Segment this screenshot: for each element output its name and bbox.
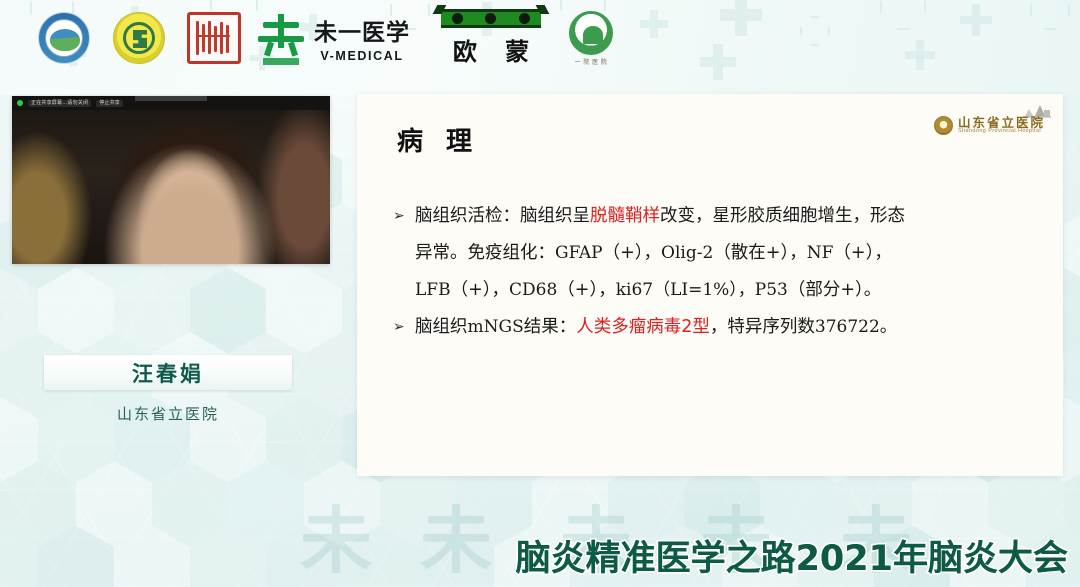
text-run: 376722	[815, 317, 880, 337]
sponsor-logo-bar: 未一医学 V-MEDICAL 欧 蒙 一 院 医 院	[0, 0, 1080, 76]
live-status-dot	[17, 100, 23, 106]
red-seal-stamp-icon	[187, 12, 241, 64]
text-run: mNGS	[468, 317, 524, 337]
association-roundel-icon	[113, 12, 165, 64]
video-overlay-bar: 正在共享屏幕…请勿关闭 停止共享	[12, 96, 330, 110]
wei-medical-name-en: V-MEDICAL	[320, 49, 403, 63]
text-run: CD68	[509, 280, 557, 300]
oumeng-roof-decor	[441, 9, 541, 28]
text-run: ，特异序列数	[710, 317, 815, 337]
bottom-banner: 未 未 未 未 未 脑炎精准医学之路2021年脑炎大会 脑炎精准医学之路2021…	[0, 475, 1080, 587]
text-run: （LI=1%），	[653, 280, 755, 300]
slide-bullet-line: 异常。免疫组化：GFAP（+），Olig-2（散在+），NF（+），	[415, 235, 1041, 272]
logo-hospital-roundel: 一 院 医 院	[556, 11, 626, 66]
slide-title: 病 理	[397, 121, 479, 158]
slide-hospital-logo: 山东省立医院 Shandong Provincial Hospital	[934, 116, 1045, 135]
hospital-roundel-caption: 一 院 医 院	[575, 57, 608, 66]
slide-bullet-text: 脑组织活检：脑组织呈脱髓鞘样改变，星形胶质细胞增生，形态异常。免疫组化：GFAP…	[415, 198, 1041, 309]
logo-world-federation-roundel	[26, 12, 102, 64]
speaker-video-tile[interactable]: 正在共享屏幕…请勿关闭 停止共享	[12, 96, 330, 264]
text-run: （部分+）。	[788, 280, 881, 300]
text-run: （+），	[603, 243, 661, 263]
stop-share-chip[interactable]: 停止共享	[96, 100, 123, 107]
text-run: NF	[807, 243, 834, 263]
text-run: 异常。免疫组化：	[415, 243, 555, 263]
presentation-slide[interactable]: 病 理 山东省立医院 Shandong Provincial Hospital …	[357, 94, 1063, 476]
speaker-affiliation: 山东省立医院	[44, 403, 292, 424]
bullet-marker-icon: ➢	[393, 198, 415, 235]
slide-body: ➢脑组织活检：脑组织呈脱髓鞘样改变，星形胶质细胞增生，形态异常。免疫组化：GFA…	[393, 198, 1041, 346]
text-run: 结果：	[524, 317, 577, 337]
wei-glyph-icon	[254, 11, 308, 65]
wei-medical-name-cn: 未一医学	[314, 13, 410, 47]
text-run: ki67	[616, 280, 653, 300]
highlight-text: 脱髓鞘样	[590, 206, 660, 226]
world-federation-roundel-icon	[38, 12, 90, 64]
slide-bullet-text: 脑组织mNGS结果：人类多瘤病毒2型，特异序列数376722。	[415, 309, 1041, 346]
text-run: 。	[880, 317, 898, 337]
speaker-name: 汪春娟	[132, 358, 204, 388]
conference-title: 脑炎精准医学之路2021年脑炎大会	[516, 530, 1068, 581]
slide-bullet-line: 脑组织mNGS结果：人类多瘤病毒2型，特异序列数376722。	[415, 309, 1041, 346]
slide-bullet-line: LFB（+），CD68（+），ki67（LI=1%），P53（部分+）。	[415, 272, 1041, 309]
speaker-name-card: 汪春娟	[44, 355, 292, 390]
oumeng-logo-icon: 欧 蒙	[436, 9, 546, 67]
text-run: （+），	[557, 280, 615, 300]
oumeng-name-cn: 欧 蒙	[443, 32, 539, 67]
logo-oumeng: 欧 蒙	[426, 9, 556, 67]
text-run: 脑组织活检：脑组织呈	[415, 206, 590, 226]
hospital-roundel-icon: 一 院 医 院	[563, 11, 619, 66]
text-run: Olig-2	[661, 243, 713, 263]
bullet-marker-icon: ➢	[393, 309, 415, 346]
text-run: 脑组织	[415, 317, 468, 337]
text-run: LFB	[415, 280, 451, 300]
text-run: （+），	[451, 280, 509, 300]
watermark-wei-1: 未	[300, 505, 372, 577]
slide-bullet-line: 脑组织活检：脑组织呈脱髓鞘样改变，星形胶质细胞增生，形态	[415, 198, 1041, 235]
text-run: （+），	[833, 243, 891, 263]
text-run: 改变，星形胶质细胞增生，形态	[660, 206, 905, 226]
logo-wei-medical-mark	[252, 11, 310, 65]
highlight-text: 人类多瘤病毒2型	[576, 317, 710, 337]
hospital-medal-icon	[934, 116, 953, 135]
watermark-wei-2: 未	[420, 505, 492, 577]
slide-bullet: ➢脑组织mNGS结果：人类多瘤病毒2型，特异序列数376722。	[393, 309, 1041, 346]
broadcast-stage: 未一医学 V-MEDICAL 欧 蒙 一 院 医 院 正在共享屏幕…请勿关闭 停…	[0, 0, 1080, 587]
speaker-video-feed	[12, 96, 330, 264]
slide-bullet: ➢脑组织活检：脑组织呈脱髓鞘样改变，星形胶质细胞增生，形态异常。免疫组化：GFA…	[393, 198, 1041, 309]
text-run: P53	[755, 280, 788, 300]
share-status-chip[interactable]: 正在共享屏幕…请勿关闭	[28, 100, 91, 107]
slide-hospital-name-en: Shandong Provincial Hospital	[958, 129, 1045, 135]
text-run: GFAP	[555, 243, 603, 263]
logo-association-roundel	[102, 12, 176, 64]
text-run: （散在+），	[713, 243, 806, 263]
logo-wei-medical-wordmark: 未一医学 V-MEDICAL	[314, 13, 410, 63]
logo-red-seal-stamp	[176, 12, 252, 64]
